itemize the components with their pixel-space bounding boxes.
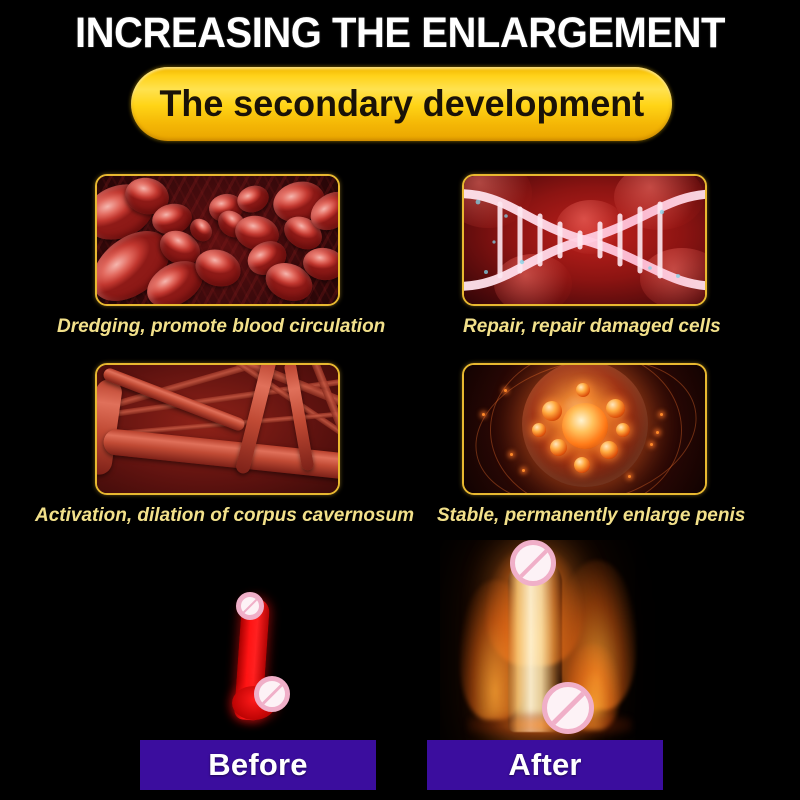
censor-icon (254, 676, 290, 712)
spark (482, 413, 485, 416)
blood-vessel-network-image (97, 365, 338, 493)
orbiting-particle (532, 423, 546, 437)
orbiting-particle (550, 439, 567, 456)
orbiting-particle (606, 399, 625, 418)
dna-helix-image (464, 176, 705, 304)
spark (504, 389, 507, 392)
glowing-energy-cell-image (464, 365, 705, 493)
after-label-bar: After (427, 740, 663, 790)
feature-panel-repair-cells (462, 174, 707, 306)
before-label: Before (208, 747, 307, 783)
feature-caption-enlarge-penis: Stable, permanently enlarge penis (437, 505, 745, 527)
orbiting-particle (542, 401, 562, 421)
before-image (190, 550, 380, 740)
spark (510, 453, 513, 456)
feature-caption-blood-circulation: Dredging, promote blood circulation (57, 316, 385, 338)
page-title: INCREASING THE ENLARGEMENT (28, 8, 772, 58)
before-label-bar: Before (140, 740, 376, 790)
poster-root: INCREASING THE ENLARGEMENT The secondary… (0, 0, 800, 800)
subtitle-banner: The secondary development (131, 67, 672, 141)
spark (522, 469, 525, 472)
censor-icon (510, 540, 556, 586)
orbiting-particle (616, 423, 630, 437)
feature-panel-enlarge-penis (462, 363, 707, 495)
feature-panel-corpus-cavernosum (95, 363, 340, 495)
spark (628, 475, 631, 478)
feature-caption-repair-cells: Repair, repair damaged cells (463, 316, 721, 338)
spark (650, 443, 653, 446)
spark (660, 413, 663, 416)
feature-caption-corpus-cavernosum: Activation, dilation of corpus cavernosu… (35, 505, 414, 527)
dna-double-helix-icon (464, 176, 705, 304)
spark (656, 431, 659, 434)
energy-core (562, 403, 608, 449)
feature-panel-blood-circulation (95, 174, 340, 306)
after-image (440, 540, 660, 740)
orbiting-particle (574, 457, 590, 473)
orbiting-particle (576, 383, 590, 397)
censor-icon (542, 682, 594, 734)
orbiting-particle (600, 441, 618, 459)
censor-icon (236, 592, 264, 620)
blood-cells-image (97, 176, 338, 304)
subtitle-banner-label: The secondary development (159, 83, 644, 125)
after-label: After (508, 747, 581, 783)
